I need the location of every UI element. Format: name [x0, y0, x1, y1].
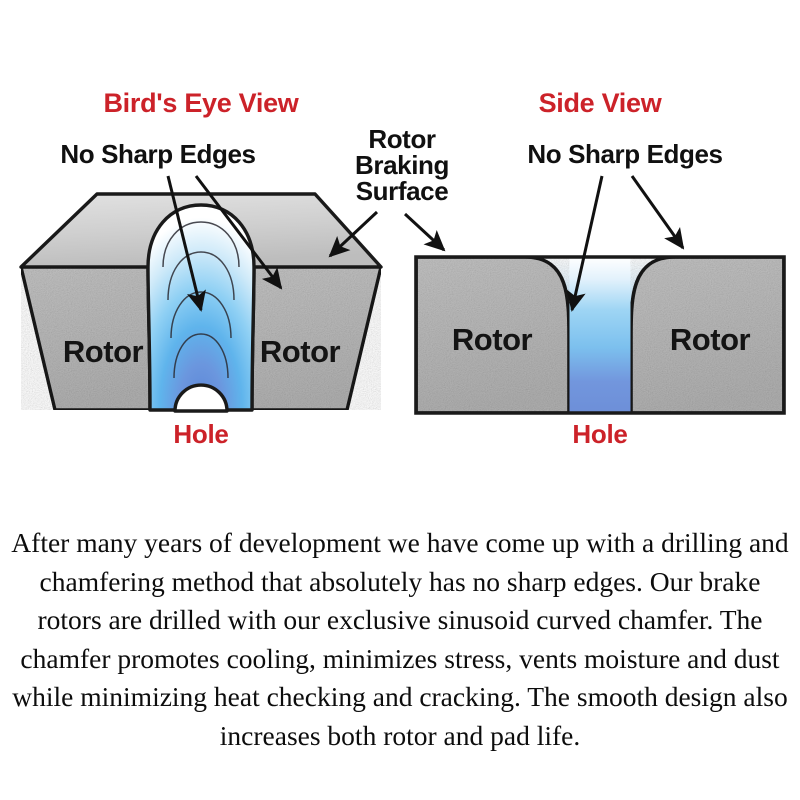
birds-eye-title: Bird's Eye View [103, 88, 299, 118]
side-rotor-label-right: Rotor [670, 322, 751, 357]
birds-eye-no-sharp-edges-label: No Sharp Edges [60, 139, 255, 169]
side-view-group: Side View No Sharp Edges Rotor Rotor Hol… [405, 88, 784, 449]
side-view-title: Side View [539, 88, 663, 118]
side-hole-label: Hole [572, 419, 627, 449]
description-paragraph: After many years of development we have … [0, 524, 800, 755]
birds-eye-rotor-label-left: Rotor [63, 334, 144, 369]
arrow-braking-surface-side [405, 214, 444, 250]
birds-eye-rotor-label-right: Rotor [260, 334, 341, 369]
description-text: After many years of development we have … [0, 524, 800, 755]
birds-eye-hole-label: Hole [173, 419, 228, 449]
side-view-no-sharp-edges-label: No Sharp Edges [527, 139, 722, 169]
side-rotor-label-left: Rotor [452, 322, 533, 357]
birds-eye-view-group: Bird's Eye View No Sharp Edges Rotor Bra… [21, 88, 449, 449]
braking-surface-label-line3: Surface [356, 176, 449, 206]
arrow-side-no-sharp-edges-right [632, 176, 683, 248]
diagram-page: Bird's Eye View No Sharp Edges Rotor Bra… [0, 0, 800, 800]
